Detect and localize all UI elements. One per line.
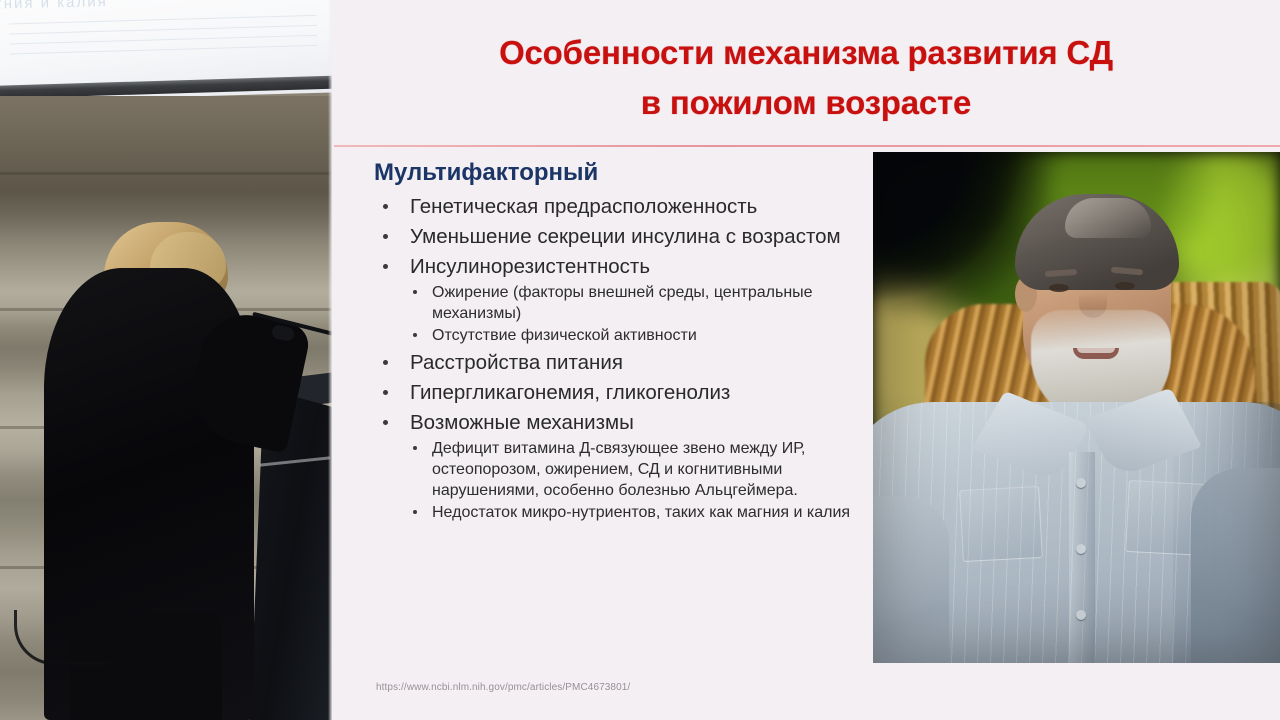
photo-shirt-pocket-left xyxy=(959,486,1043,562)
photo-arm-right xyxy=(1191,468,1280,663)
sub-list-item: Недостаток микро-нутриентов, таких как м… xyxy=(410,502,872,523)
photo-hair-highlight xyxy=(1065,198,1151,238)
sub-bullet-text: Недостаток микро-нутриентов, таких как м… xyxy=(432,504,850,521)
bullet-text: Возможные механизмы xyxy=(410,408,872,437)
photo-teeth xyxy=(1077,348,1115,353)
photo-shirt-button xyxy=(1076,478,1086,488)
photo-eye-right xyxy=(1115,282,1135,290)
list-item: Гипергликагонемия, гликогенолиз xyxy=(372,378,872,407)
bullet-dot-icon xyxy=(383,234,388,239)
sub-list-item: Дефицит витамина Д-связующее звено между… xyxy=(410,438,872,501)
sub-bullet-dot-icon xyxy=(413,333,417,337)
page-title: Особенности механизма развития СД в пожи… xyxy=(332,28,1280,128)
page-title-line-2: в пожилом возрасте xyxy=(332,78,1280,128)
slide-viewer: гния и калия Особенности мех xyxy=(0,0,1280,720)
bullet-dot-icon xyxy=(383,360,388,365)
projection-screen-lines xyxy=(9,15,318,76)
bullet-text: Расстройства питания xyxy=(410,348,872,377)
list-item: Инсулинорезистентность Ожирение (факторы… xyxy=(372,252,872,346)
sub-bullet-dot-icon xyxy=(413,446,417,450)
bullet-dot-icon xyxy=(383,204,388,209)
bullet-text: Гипергликагонемия, гликогенолиз xyxy=(410,378,872,407)
sub-bullet-text: Дефицит витамина Д-связующее звено между… xyxy=(432,440,805,499)
sub-bullet-dot-icon xyxy=(413,290,417,294)
bullet-dot-icon xyxy=(383,420,388,425)
sub-bullet-dot-icon xyxy=(413,510,417,514)
presentation-slide: Особенности механизма развития СД в пожи… xyxy=(332,0,1280,720)
source-url[interactable]: https://www.ncbi.nlm.nih.gov/pmc/article… xyxy=(376,682,630,693)
photo-eye-left xyxy=(1049,284,1069,292)
photo-shirt-button xyxy=(1076,610,1086,620)
list-item: Возможные механизмы Дефицит витамина Д-с… xyxy=(372,408,872,523)
list-item: Генетическая предрасположенность xyxy=(372,192,872,221)
bullet-dot-icon xyxy=(383,264,388,269)
bullet-text: Уменьшение секреции инсулина с возрастом xyxy=(410,222,872,251)
list-item: Расстройства питания xyxy=(372,348,872,377)
bullet-dot-icon xyxy=(383,390,388,395)
page-title-line-1: Особенности механизма развития СД xyxy=(332,28,1280,78)
sub-bullet-text: Ожирение (факторы внешней среды, централ… xyxy=(432,284,813,322)
slide-body: Мультифакторный Генетическая предрасполо… xyxy=(372,158,872,525)
lecture-video-panel[interactable]: гния и калия xyxy=(0,0,332,720)
sub-bullet-list: Дефицит витамина Д-связующее звено между… xyxy=(410,438,872,523)
photo-shirt-button xyxy=(1076,544,1086,554)
bullet-text: Инсулинорезистентность xyxy=(410,252,872,281)
lead-heading: Мультифакторный xyxy=(374,158,872,188)
sub-list-item: Ожирение (факторы внешней среды, централ… xyxy=(410,282,872,324)
sub-bullet-list: Ожирение (факторы внешней среды, централ… xyxy=(410,282,872,346)
elderly-man-photo xyxy=(873,152,1280,663)
bullet-list: Генетическая предрасположенность Уменьше… xyxy=(372,192,872,523)
list-item: Уменьшение секреции инсулина с возрастом xyxy=(372,222,872,251)
sub-bullet-text: Отсутствие физической активности xyxy=(432,327,697,344)
projection-screen-text: гния и калия xyxy=(0,0,108,13)
bullet-text: Генетическая предрасположенность xyxy=(410,192,872,221)
photo-dark-corner xyxy=(873,152,1023,302)
sub-list-item: Отсутствие физической активности xyxy=(410,325,872,346)
photo-arm-left xyxy=(873,496,949,663)
title-divider xyxy=(334,145,1280,147)
